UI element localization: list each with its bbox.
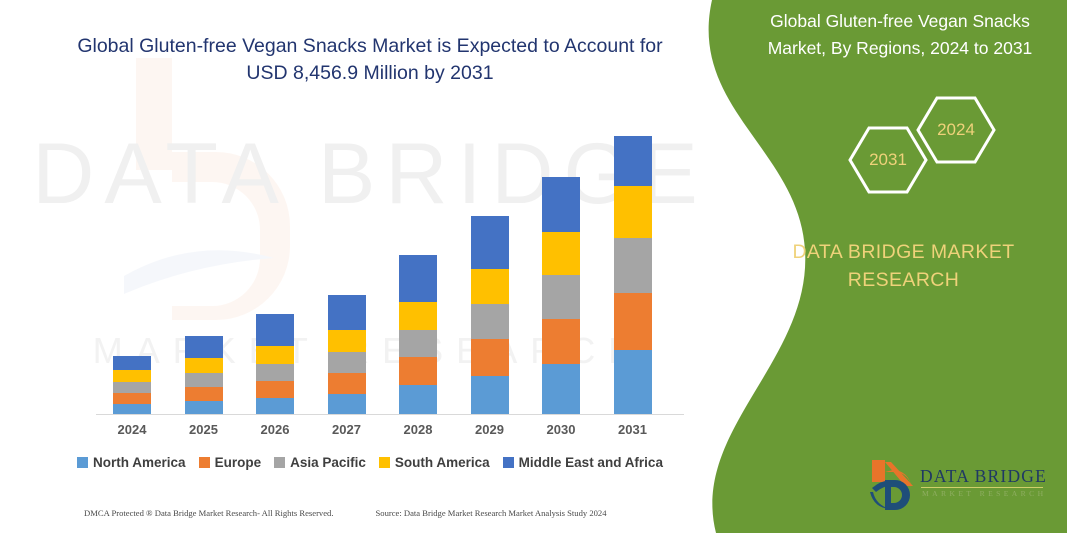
legend-label: Middle East and Africa xyxy=(519,455,663,470)
panel-title: Global Gluten-free Vegan Snacks Market, … xyxy=(735,8,1065,62)
bar-segment xyxy=(542,177,580,232)
bar-2025 xyxy=(185,336,223,414)
bar-segment xyxy=(328,373,366,394)
legend-label: Asia Pacific xyxy=(290,455,366,470)
hexagon-outlines xyxy=(740,88,1067,200)
bar-segment xyxy=(471,269,509,304)
legend-swatch-icon xyxy=(379,457,390,468)
bar-segment xyxy=(614,136,652,186)
panel-brand-text: DATA BRIDGE MARKET RESEARCH xyxy=(740,238,1067,294)
legend-label: North America xyxy=(93,455,186,470)
bar-segment xyxy=(614,293,652,350)
legend-item-south-america[interactable]: South America xyxy=(379,455,490,470)
x-axis-label-2024: 2024 xyxy=(92,422,172,437)
bar-segment xyxy=(471,304,509,339)
bar-segment xyxy=(399,330,437,357)
bar-segment xyxy=(256,364,294,381)
legend-swatch-icon xyxy=(77,457,88,468)
bar-segment xyxy=(113,382,151,393)
x-axis-line xyxy=(96,414,684,415)
legend-item-north-america[interactable]: North America xyxy=(77,455,186,470)
logo-tagline: MARKET RESEARCH xyxy=(922,489,1047,498)
x-axis-label-2027: 2027 xyxy=(307,422,387,437)
logo-mark-icon xyxy=(868,458,916,510)
legend-swatch-icon xyxy=(274,457,285,468)
chart-legend: North AmericaEuropeAsia PacificSouth Ame… xyxy=(0,455,740,470)
infographic-canvas: DATA BRIDGE MARKET RESEARCH Global Glute… xyxy=(0,0,1067,533)
bar-segment xyxy=(185,401,223,414)
bar-2026 xyxy=(256,314,294,414)
bar-segment xyxy=(399,357,437,385)
bar-segment xyxy=(542,232,580,275)
bar-segment xyxy=(471,216,509,269)
hexagon-label-2024: 2024 xyxy=(918,120,994,140)
legend-item-middle-east-and-africa[interactable]: Middle East and Africa xyxy=(503,455,663,470)
bar-segment xyxy=(185,358,223,373)
bar-segment xyxy=(614,350,652,414)
bar-segment xyxy=(256,398,294,414)
bar-segment xyxy=(614,186,652,238)
x-axis-label-2028: 2028 xyxy=(378,422,458,437)
bar-segment xyxy=(399,255,437,302)
bar-segment xyxy=(256,314,294,346)
footer-copyright: DMCA Protected ® Data Bridge Market Rese… xyxy=(84,508,334,518)
legend-label: Europe xyxy=(215,455,262,470)
bar-segment xyxy=(113,404,151,414)
bar-segment xyxy=(185,373,223,387)
legend-label: South America xyxy=(395,455,490,470)
bar-segment xyxy=(328,295,366,330)
bar-segment xyxy=(399,385,437,414)
bar-segment xyxy=(113,356,151,370)
hexagon-group: 2024 2031 xyxy=(740,88,1067,200)
bar-segment xyxy=(614,238,652,293)
bar-segment xyxy=(185,387,223,401)
legend-swatch-icon xyxy=(199,457,210,468)
bar-segment xyxy=(471,339,509,376)
chart-plot-area: 20242025202620272028202920302031 xyxy=(0,0,740,533)
bar-segment xyxy=(399,302,437,330)
bar-segment xyxy=(256,346,294,364)
bar-segment xyxy=(542,319,580,364)
bar-2029 xyxy=(471,216,509,414)
bar-segment xyxy=(328,330,366,352)
bar-segment xyxy=(542,364,580,414)
footer-source: Source: Data Bridge Market Research Mark… xyxy=(376,508,607,518)
data-bridge-logo: DATA BRIDGE MARKET RESEARCH xyxy=(868,458,1058,516)
hexagon-label-2031: 2031 xyxy=(850,150,926,170)
legend-item-europe[interactable]: Europe xyxy=(199,455,262,470)
bar-2027 xyxy=(328,295,366,414)
bar-2031 xyxy=(614,136,652,414)
bar-2024 xyxy=(113,356,151,414)
bar-segment xyxy=(328,394,366,414)
x-axis-label-2029: 2029 xyxy=(450,422,530,437)
x-axis-label-2031: 2031 xyxy=(593,422,673,437)
legend-swatch-icon xyxy=(503,457,514,468)
bar-segment xyxy=(185,336,223,358)
bar-2030 xyxy=(542,177,580,414)
bar-segment xyxy=(113,370,151,382)
x-axis-label-2026: 2026 xyxy=(235,422,315,437)
bar-segment xyxy=(542,275,580,319)
bar-segment xyxy=(471,376,509,414)
green-panel-content: Global Gluten-free Vegan Snacks Market, … xyxy=(740,0,1067,533)
footer: DMCA Protected ® Data Bridge Market Rese… xyxy=(0,508,710,518)
bar-segment xyxy=(113,393,151,404)
x-axis-label-2030: 2030 xyxy=(521,422,601,437)
legend-item-asia-pacific[interactable]: Asia Pacific xyxy=(274,455,366,470)
bar-2028 xyxy=(399,255,437,414)
logo-divider xyxy=(921,487,1043,488)
bar-segment xyxy=(328,352,366,373)
bar-segment xyxy=(256,381,294,398)
logo-wordmark: DATA BRIDGE xyxy=(920,466,1047,487)
x-axis-label-2025: 2025 xyxy=(164,422,244,437)
